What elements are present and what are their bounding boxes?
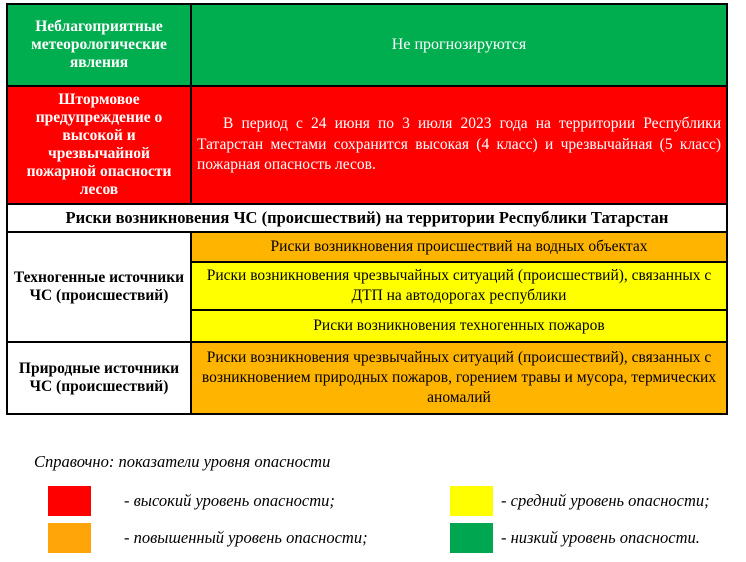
table-row: Природные источники ЧС (происшествий) Ри… [7, 342, 727, 414]
group-label-technogenic: Техногенные источники ЧС (происшествий) [7, 232, 191, 342]
table-row: Риски возникновения ЧС (происшествий) на… [7, 204, 727, 232]
legend-label-elevated: - повышенный уровень опасности; [124, 528, 368, 548]
row-label-storm-warning: Штормовое предупреждение о высокой и чре… [7, 86, 191, 204]
legend-entry-low: - низкий уровень опасности. [416, 523, 746, 553]
risk-item-road-accidents: Риски возникновения чрезвычайных ситуаци… [191, 262, 727, 310]
document-page: Неблагоприятные метеорологические явлени… [0, 0, 746, 562]
legend-entry-high: - высокий уровень опасности; [0, 486, 416, 516]
risk-item-water-objects: Риски возникновения происшествий на водн… [191, 232, 727, 262]
risk-item-natural-fires: Риски возникновения чрезвычайных ситуаци… [191, 342, 727, 414]
color-swatch-elevated-icon [48, 523, 91, 553]
legend-row: - повышенный уровень опасности; - низкий… [0, 519, 746, 556]
color-swatch-medium-icon [450, 486, 493, 516]
table-row: Неблагоприятные метеорологические явлени… [7, 4, 727, 86]
legend-title: Справочно: показатели уровня опасности [34, 452, 330, 472]
legend-entry-medium: - средний уровень опасности; [416, 486, 746, 516]
legend-row: - высокий уровень опасности; - средний у… [0, 482, 746, 519]
legend-label-high: - высокий уровень опасности; [124, 491, 335, 511]
table-row: Штормовое предупреждение о высокой и чре… [7, 86, 727, 204]
risk-item-technogenic-fires: Риски возникновения техногенных пожаров [191, 310, 727, 342]
legend-label-medium: - средний уровень опасности; [501, 491, 710, 511]
section-header-risks: Риски возникновения ЧС (происшествий) на… [7, 204, 727, 232]
row-label-adverse-weather: Неблагоприятные метеорологические явлени… [7, 4, 191, 86]
legend-entry-elevated: - повышенный уровень опасности; [0, 523, 416, 553]
legend-grid: - высокий уровень опасности; - средний у… [0, 482, 746, 556]
legend: Справочно: показатели уровня опасности -… [0, 452, 746, 562]
color-swatch-high-icon [48, 486, 91, 516]
legend-label-low: - низкий уровень опасности. [501, 528, 700, 548]
table-row: Техногенные источники ЧС (происшествий) … [7, 232, 727, 262]
color-swatch-low-icon [450, 523, 493, 553]
group-label-natural: Природные источники ЧС (происшествий) [7, 342, 191, 414]
row-content-storm-warning: В период с 24 июня по 3 июля 2023 года н… [191, 86, 727, 204]
risk-forecast-table: Неблагоприятные метеорологические явлени… [6, 3, 728, 415]
row-content-adverse-weather: Не прогнозируются [191, 4, 727, 86]
